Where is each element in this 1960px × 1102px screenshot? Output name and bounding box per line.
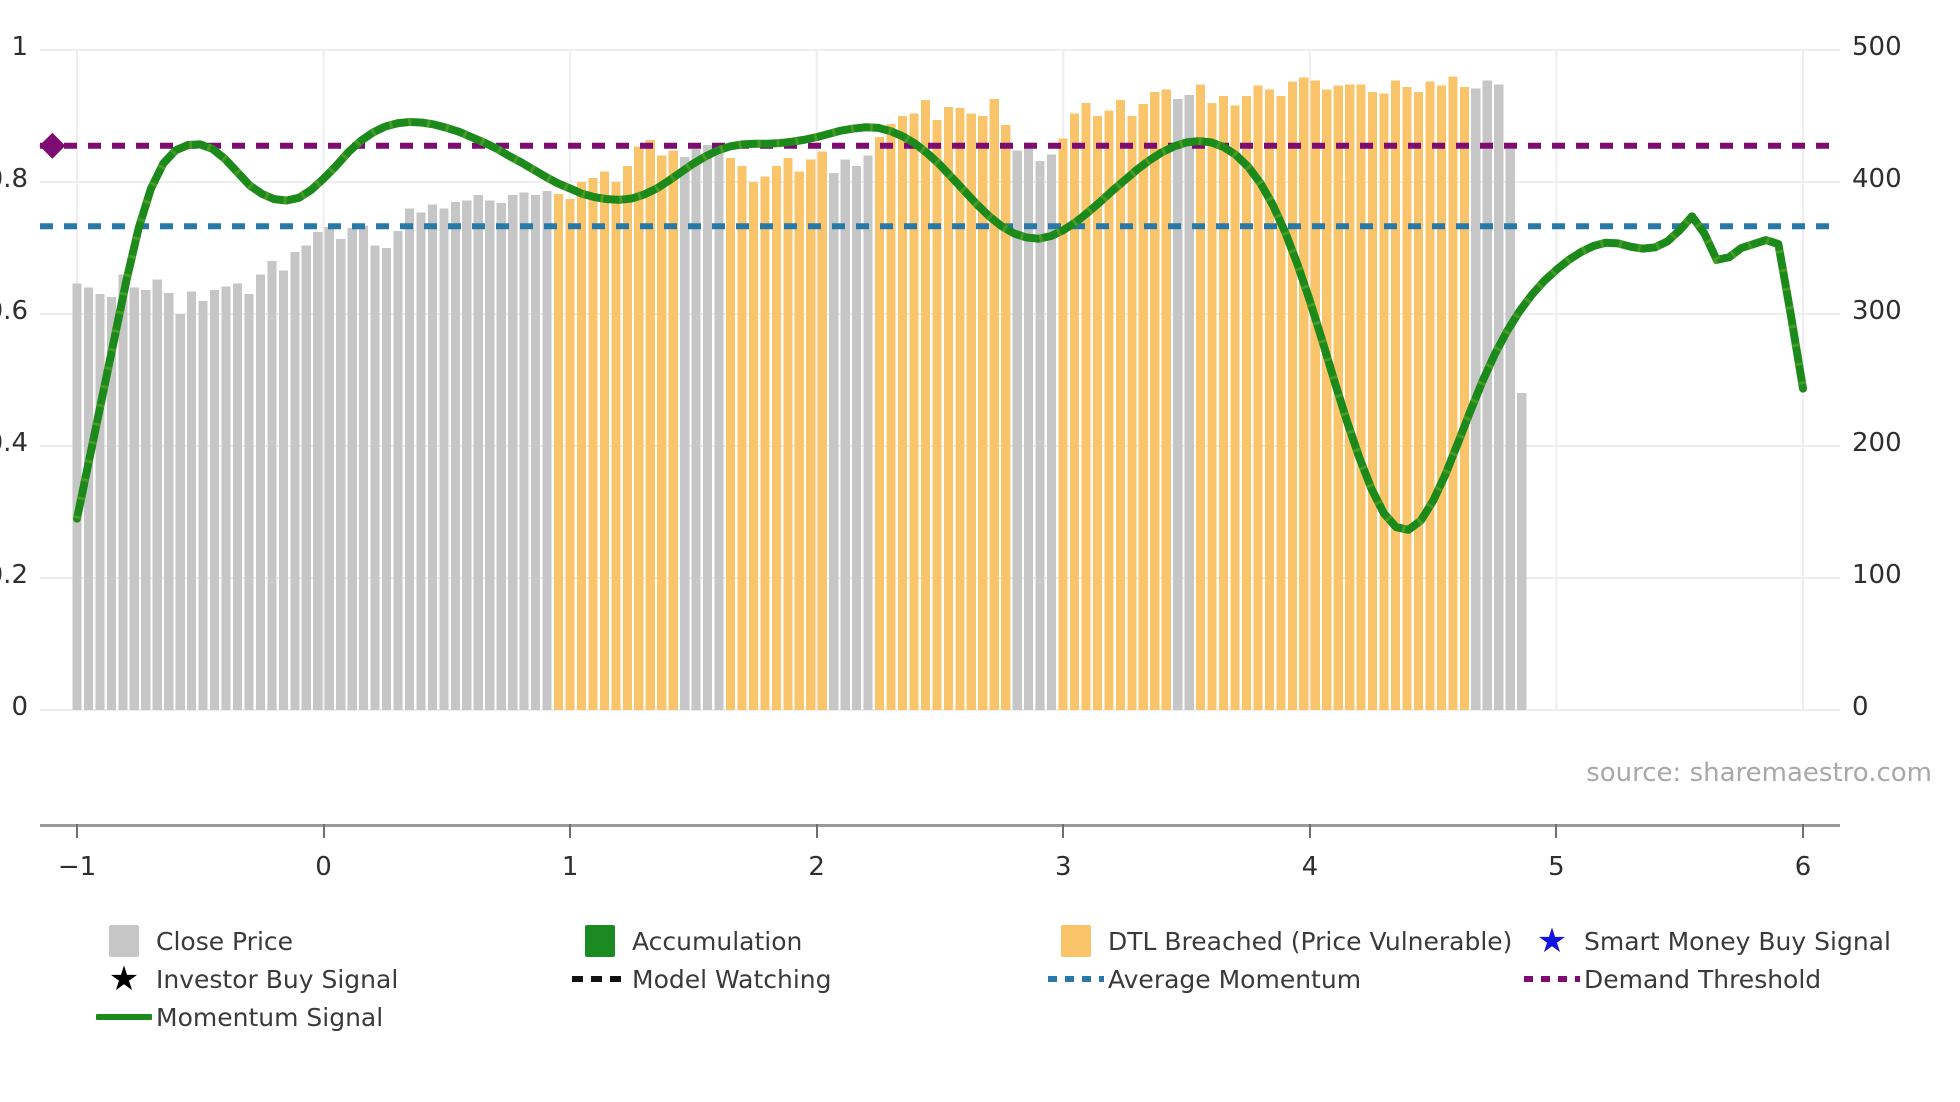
legend-label: Demand Threshold	[1584, 965, 1821, 994]
y-tick-right: 300	[1852, 296, 1902, 326]
y-tick-right: 200	[1852, 428, 1902, 458]
legend-row: Close PriceAccumulationDTL Breached (Pri…	[92, 922, 1892, 960]
x-tick-mark	[816, 824, 818, 838]
x-tick-mark	[569, 824, 571, 838]
square-swatch-icon	[568, 926, 632, 956]
legend-item[interactable]: Close Price	[92, 922, 293, 960]
legend-item[interactable]: Accumulation	[568, 922, 802, 960]
demand-threshold-marker	[39, 133, 65, 159]
solid-line-icon	[92, 1002, 156, 1032]
legend-swatch	[109, 925, 139, 957]
y-tick-right: 0	[1852, 692, 1869, 722]
dashed-line-icon	[568, 964, 632, 994]
legend-label: Smart Money Buy Signal	[1584, 927, 1891, 956]
x-tick-mark	[1802, 824, 1804, 838]
momentum-path-overlay	[77, 122, 1803, 530]
legend-swatch	[1524, 976, 1580, 982]
star-marker-icon: ★	[92, 964, 156, 994]
legend-label: Accumulation	[632, 927, 802, 956]
legend-item[interactable]: Demand Threshold	[1520, 960, 1821, 998]
star-marker-icon: ★	[1520, 926, 1584, 956]
source-watermark: source: sharemaestro.com	[1586, 758, 1932, 788]
legend-item[interactable]: Average Momentum	[1044, 960, 1361, 998]
y-tick-right: 400	[1852, 164, 1902, 194]
dotted-line-icon	[1044, 964, 1108, 994]
legend-swatch	[585, 925, 615, 957]
dotted-line-icon	[1520, 964, 1584, 994]
chart-legend: Close PriceAccumulationDTL Breached (Pri…	[92, 922, 1892, 1036]
legend-row: ★Investor Buy SignalModel WatchingAverag…	[92, 960, 1892, 998]
x-tick-label: 5	[1548, 852, 1565, 882]
y-tick-left: 0.2	[0, 560, 28, 590]
x-tick-mark	[1309, 824, 1311, 838]
legend-swatch: ★	[1537, 924, 1567, 958]
y-tick-left: 0.4	[0, 428, 28, 458]
legend-label: Momentum Signal	[156, 1003, 383, 1032]
x-tick-label: 2	[808, 852, 825, 882]
legend-swatch: ★	[109, 962, 139, 996]
y-tick-right: 500	[1852, 32, 1902, 62]
legend-label: Average Momentum	[1108, 965, 1361, 994]
x-tick-label: 3	[1055, 852, 1072, 882]
legend-label: Investor Buy Signal	[156, 965, 398, 994]
chart-root: 10.80.60.40.20 5004003002001000 −1012345…	[0, 0, 1960, 1102]
square-swatch-icon	[1044, 926, 1108, 956]
momentum-path	[77, 122, 1803, 530]
legend-swatch	[572, 976, 628, 982]
y-tick-left: 0	[11, 692, 28, 722]
y-tick-left: 0.6	[0, 296, 28, 326]
x-tick-mark	[1062, 824, 1064, 838]
legend-label: Close Price	[156, 927, 293, 956]
momentum-signal-line	[40, 50, 1840, 710]
legend-item[interactable]: ★Investor Buy Signal	[92, 960, 398, 998]
x-tick-mark	[323, 824, 325, 838]
x-tick-label: 6	[1795, 852, 1812, 882]
square-swatch-icon	[92, 926, 156, 956]
x-tick-label: 1	[562, 852, 579, 882]
legend-label: DTL Breached (Price Vulnerable)	[1108, 927, 1512, 956]
legend-item[interactable]: Model Watching	[568, 960, 832, 998]
legend-label: Model Watching	[632, 965, 832, 994]
y-tick-left: 1	[11, 32, 28, 62]
x-tick-label: 4	[1302, 852, 1319, 882]
plot-area	[40, 50, 1840, 710]
legend-swatch	[1048, 976, 1104, 982]
legend-item[interactable]: DTL Breached (Price Vulnerable)	[1044, 922, 1512, 960]
y-tick-left: 0.8	[0, 164, 28, 194]
y-tick-right: 100	[1852, 560, 1902, 590]
x-tick-label: −1	[58, 852, 96, 882]
x-tick-mark	[76, 824, 78, 838]
legend-swatch	[1061, 925, 1091, 957]
x-tick-label: 0	[315, 852, 332, 882]
legend-item[interactable]: Momentum Signal	[92, 998, 383, 1036]
x-tick-mark	[1555, 824, 1557, 838]
x-axis-spine	[40, 824, 1840, 827]
legend-swatch	[96, 1014, 152, 1020]
legend-row: Momentum Signal	[92, 998, 1892, 1036]
legend-item[interactable]: ★Smart Money Buy Signal	[1520, 922, 1891, 960]
